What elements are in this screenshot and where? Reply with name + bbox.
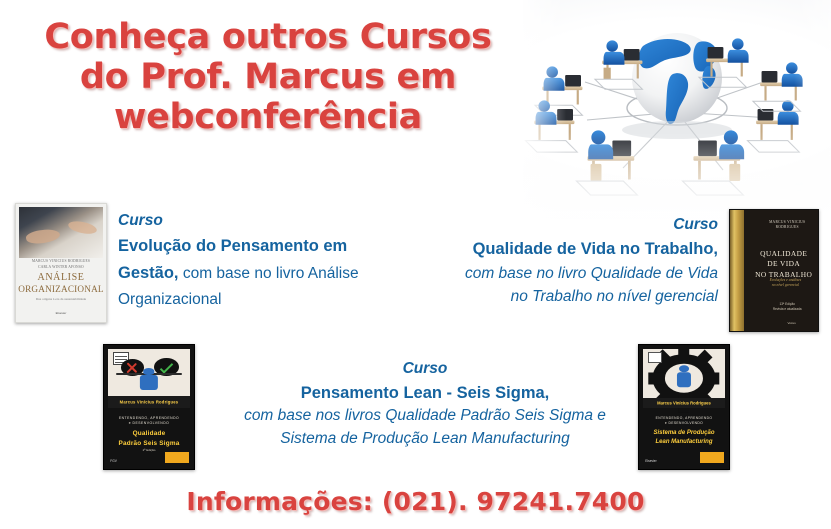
course-label: Curso [118,208,418,233]
contact-info: Informações: (021). 97241.7400 [0,487,831,516]
page-title-line-3: webconferência [18,98,518,138]
book-spine [730,210,744,331]
book-kicker-line-2: e DESENVOLVENDO [109,421,188,426]
course-block-3: Curso Pensamento Lean - Seis Sigma, com … [205,358,645,451]
course-title: Pensamento Lean - Seis Sigma, [205,381,645,405]
book-title-line-1: Qualidade [109,429,190,438]
cover-photo-hand-left [25,228,60,246]
book-title-line-2: Padrão Seis Sigma [109,439,190,448]
book-cover-art: Marcus Vinícius Rodrigues ENTENDENDO, AP… [104,345,194,469]
book-kicker: ENTENDENDO, APRENDENDO e DESENVOLVENDO [109,416,188,427]
page-title-line-2: do Prof. Marcus em [18,58,518,98]
cover-illustration: Marcus Vinícius Rodrigues [108,349,191,409]
author-band: Marcus Vinícius Rodrigues [643,398,726,409]
course-description-cont: no Trabalho no nível gerencial [418,285,718,309]
course-description: com base no livro Qualidade de Vida [418,262,718,286]
book-author: Marcus Vinícius Rodrigues [643,400,726,405]
book-subtitle: Das origens à era da sustentabilidade [16,297,106,301]
book-author-2: CARLA WINTER AFONSO [16,265,106,270]
page-title: Conheça outros Cursos do Prof. Marcus em… [18,18,518,138]
book-title: QUALIDADE DE VIDA NO TRABALHO [755,249,813,281]
cover-photo-hand-right [67,219,97,236]
course-description-cont: Sistema de Produção Lean Manufacturing [205,428,645,451]
publisher-logo: FGV [110,459,117,463]
book-authors: MARCUS VINICIUS RODRIGUES [763,220,812,231]
book-title: Sistema de Produção Lean Manufacturing [643,429,726,447]
poster-canvas: Conheça outros Cursos do Prof. Marcus em… [0,0,831,529]
book-kicker: ENTENDENDO, APRENDENDO e DESENVOLVENDO [644,416,723,427]
book-subtitle-line-2: no nível gerencial [759,283,812,289]
book-subtitle: Evoluções e análises no nível gerencial [759,278,812,289]
course-description-text: com base no livro Análise [179,265,359,282]
book-title-line-1: QUALIDADE [755,249,813,260]
course-description: com base nos livros Qualidade Padrão Sei… [205,405,645,428]
figure-icon [140,375,158,390]
analise-organizacional-cover: MARCUS VINICIUS RODRIGUES CARLA WINTER A… [15,203,107,323]
figure-icon [677,372,691,387]
cover-badge [700,452,723,463]
book-cover-art: MARCUS VINICIUS RODRIGUES CARLA WINTER A… [16,204,106,322]
course-block-2: Curso Qualidade de Vida no Trabalho, com… [418,213,718,309]
book-title-line-1: Sistema de Produção [643,429,726,438]
book-authors: MARCUS VINICIUS RODRIGUES CARLA WINTER A… [16,259,106,270]
cover-photo [19,207,103,258]
book-title-line-1: ANÁLISE [16,272,106,283]
book-title: Qualidade Padrão Seis Sigma [109,429,190,448]
publisher-logo: Vozes [774,321,809,325]
publisher-mark-icon [648,352,662,362]
book-title-line-2: ORGANIZACIONAL [16,284,106,294]
book-author-2: RODRIGUES [763,225,812,230]
book-kicker-line-2: e DESENVOLVENDO [644,421,723,426]
author-band: Marcus Vinícius Rodrigues [108,396,191,408]
cover-badge [165,452,188,463]
course-title: Qualidade de Vida no Trabalho, [418,237,718,262]
page-title-line-1: Conheça outros Cursos [18,18,518,58]
webconference-globe-illustration [523,0,831,219]
book-edition: 13ª Edição Revista e atualizada [765,302,809,312]
qualidade-de-vida-no-trabalho-cover: MARCUS VINICIUS RODRIGUES QUALIDADE DE V… [729,209,819,332]
publisher-logo: Elsevier [56,311,67,315]
book-title-line-2: Lean Manufacturing [643,438,726,447]
course-description: Gestão, com base no livro Análise [118,260,418,287]
course-description-cont: Organizacional [118,287,418,312]
cover-illustration: Marcus Vinícius Rodrigues [643,349,726,409]
book-cover-art: Marcus Vinícius Rodrigues ENTENDENDO, AP… [639,345,729,469]
course-title: Evolução do Pensamento em [118,233,418,260]
publisher-logo: Elsevier [645,459,656,463]
book-cover-art: MARCUS VINICIUS RODRIGUES QUALIDADE DE V… [730,210,818,331]
sistema-de-producao-lean-manufacturing-cover: Marcus Vinícius Rodrigues ENTENDENDO, AP… [638,344,730,470]
course-title-cont: Gestão, [118,264,179,282]
course-label: Curso [418,213,718,237]
course-label: Curso [205,358,645,381]
book-edition-line-2: Revista e atualizada [765,307,809,312]
book-author: Marcus Vinícius Rodrigues [108,400,191,405]
qualidade-padrao-seis-sigma-cover: Marcus Vinícius Rodrigues ENTENDENDO, AP… [103,344,195,470]
course-block-1: Curso Evolução do Pensamento em Gestão, … [118,208,418,312]
book-title-line-2: DE VIDA [755,259,813,270]
